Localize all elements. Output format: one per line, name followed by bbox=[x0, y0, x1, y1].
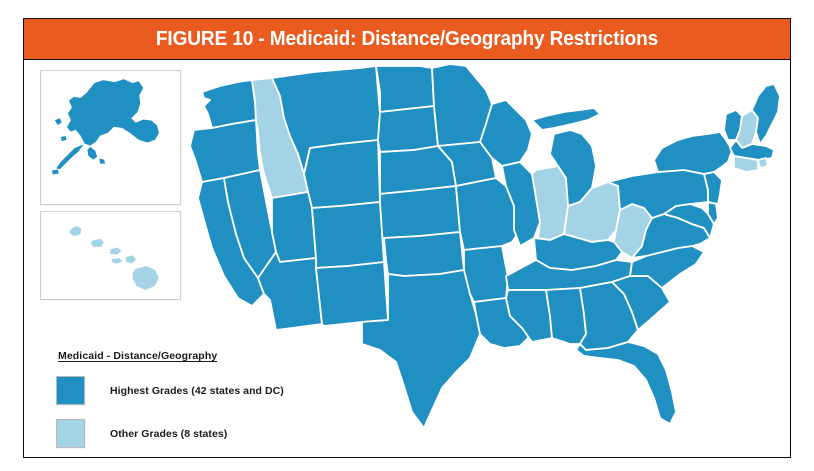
legend-label-highest-grades: Highest Grades (42 states and DC) bbox=[110, 385, 284, 397]
hawaii-map-svg bbox=[41, 212, 180, 299]
hawaii-shape bbox=[69, 226, 159, 291]
legend-item-highest-grades: Highest Grades (42 states and DC) bbox=[56, 376, 316, 405]
legend-swatch-other-grades bbox=[56, 419, 85, 448]
state-ri bbox=[758, 158, 768, 168]
state-ar bbox=[464, 246, 508, 302]
alaska-inset-box bbox=[40, 70, 181, 205]
page-title: FIGURE 10 - Medicaid: Distance/Geography… bbox=[156, 27, 658, 51]
hawaii-inset-box bbox=[40, 211, 181, 300]
state-ut bbox=[272, 192, 316, 262]
legend-heading: Medicaid - Distance/Geography bbox=[58, 350, 316, 362]
state-sd bbox=[378, 106, 438, 152]
state-az bbox=[258, 252, 322, 330]
map-legend: Medicaid - Distance/Geography Highest Gr… bbox=[56, 350, 316, 462]
legend-label-other-grades: Other Grades (8 states) bbox=[110, 428, 227, 440]
state-dc bbox=[702, 220, 706, 224]
state-co bbox=[312, 202, 384, 268]
state-wy bbox=[304, 140, 380, 208]
alaska-shape bbox=[52, 79, 159, 175]
state-me bbox=[752, 84, 780, 144]
figure-title-bar: FIGURE 10 - Medicaid: Distance/Geography… bbox=[23, 18, 791, 60]
legend-swatch-highest-grades bbox=[56, 376, 85, 405]
legend-item-other-grades: Other Grades (8 states) bbox=[56, 419, 316, 448]
state-ok bbox=[384, 232, 464, 276]
figure-container: FIGURE 10 - Medicaid: Distance/Geography… bbox=[0, 0, 814, 471]
state-fl bbox=[576, 342, 676, 424]
state-al bbox=[546, 288, 586, 344]
state-nm bbox=[316, 262, 388, 326]
state-ny bbox=[654, 132, 732, 174]
alaska-map-svg bbox=[41, 71, 180, 204]
